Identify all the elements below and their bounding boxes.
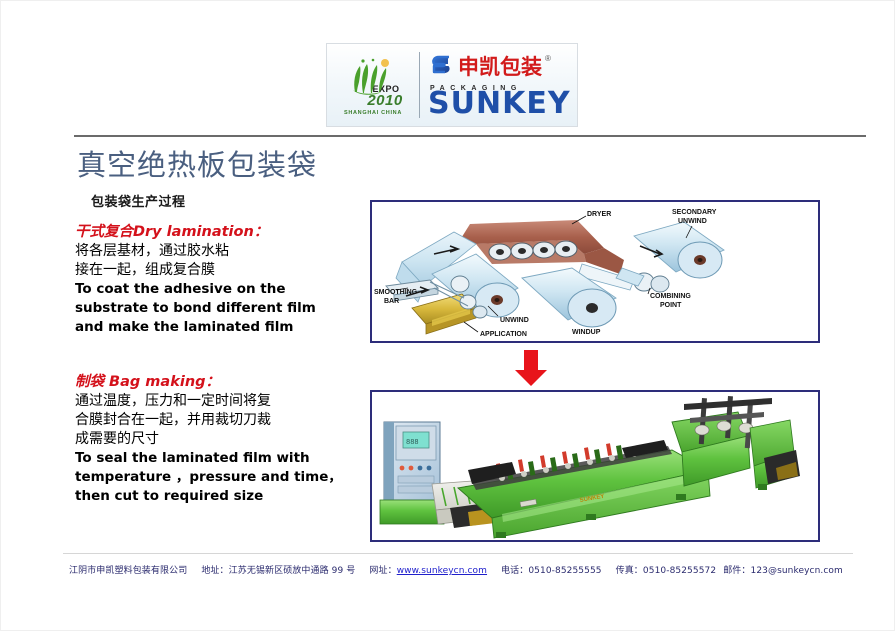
bag-making-machine-photo: 888 [372, 392, 818, 540]
block-chinese-line: 成需要的尺寸 [75, 430, 365, 449]
sunkey-english-name: SUNKEY [428, 89, 571, 119]
shanghai-expo-2010-logo: EXPO 2010 SHANGHAI CHINA [327, 44, 419, 126]
text-block-bag-making: 制袋 Bag making： 通过温度，压力和一定时间将复 合膜封合在一起，并用… [75, 373, 365, 506]
diagram-label: DRYER [587, 211, 611, 218]
expo-emblem-icon [345, 56, 401, 96]
lamination-diagram-illustration: DRYER SECONDARY UNWIND SMOOTHING BAR UNW… [372, 202, 818, 341]
diagram-label: COMBINING [650, 293, 691, 300]
block-chinese-line: 通过温度，压力和一定时间将复 [75, 392, 365, 411]
slide-canvas: EXPO 2010 SHANGHAI CHINA 申凯包装 [0, 0, 895, 631]
figure-lamination-diagram: DRYER SECONDARY UNWIND SMOOTHING BAR UNW… [370, 200, 820, 343]
sunkey-s-mark-icon [428, 54, 454, 80]
sunkey-chinese-row: 申凯包装 ® [428, 54, 571, 84]
diagram-label: APPLICATION [480, 331, 527, 338]
down-arrow-icon [514, 350, 548, 387]
page-title: 真空绝热板包装袋 [77, 142, 317, 184]
sunkey-chinese-name: 申凯包装 [458, 54, 542, 80]
expo-city: SHANGHAI CHINA [344, 110, 402, 116]
footer-contact-bar: 江阴市申凯塑料包装有限公司地址：江苏无锡新区硕放中通路 99 号网址：www.s… [69, 563, 869, 576]
block-chinese-line: 接在一起，组成复合膜 [75, 261, 365, 280]
footer-company: 江阴市申凯塑料包装有限公司 [69, 566, 187, 576]
block-english-line: and make the laminated film [75, 318, 365, 337]
header-logo-band: EXPO 2010 SHANGHAI CHINA 申凯包装 [326, 43, 578, 127]
footer-address-label: 地址： [201, 566, 228, 576]
footer-divider-rule [63, 553, 853, 554]
block-heading: 干式复合Dry lamination： [75, 223, 365, 242]
figure-bag-making-machine: 888 [370, 390, 820, 542]
block-english-line: To coat the adhesive on the [75, 280, 365, 299]
footer-fax-label: 传真： [616, 566, 643, 576]
block-english-line: then cut to required size [75, 487, 365, 506]
footer-fax: 0510-85255572 [643, 566, 716, 576]
block-chinese-line: 合膜封合在一起，并用裁切刀裁 [75, 411, 365, 430]
block-heading: 制袋 Bag making： [75, 373, 365, 392]
footer-email: 123@sunkeycn.com [751, 566, 843, 576]
block-english-line: To seal the laminated film with [75, 449, 365, 468]
footer-address: 江苏无锡新区硕放中通路 99 号 [229, 566, 356, 576]
block-english-line: substrate to bond different film [75, 299, 365, 318]
diagram-label: SMOOTHING [374, 289, 418, 296]
diagram-label: UNWIND [678, 218, 707, 225]
diagram-label: WINDUP [572, 329, 601, 336]
diagram-label: POINT [660, 302, 682, 309]
diagram-label: SECONDARY [672, 209, 717, 216]
page-subtitle: 包装袋生产过程 [91, 191, 186, 210]
svg-text:888: 888 [406, 439, 419, 447]
registered-mark-icon: ® [545, 54, 551, 64]
diagram-label: BAR [384, 298, 399, 305]
footer-website-link[interactable]: www.sunkeycn.com [397, 566, 487, 576]
footer-phone: 0510-85255555 [528, 566, 601, 576]
sunkey-packaging-logo: 申凯包装 ® PACKAGING SUNKEY [420, 44, 577, 126]
footer-email-label: 邮件： [723, 566, 750, 576]
footer-phone-label: 电话： [501, 566, 528, 576]
text-block-dry-lamination: 干式复合Dry lamination： 将各层基材，通过胶水粘 接在一起，组成复… [75, 223, 365, 337]
diagram-label: UNWIND [500, 317, 529, 324]
block-english-line: temperature ，pressure and time， [75, 468, 365, 487]
block-chinese-line: 将各层基材，通过胶水粘 [75, 242, 365, 261]
footer-website-label: 网址： [369, 566, 396, 576]
header-divider-rule [74, 135, 866, 137]
